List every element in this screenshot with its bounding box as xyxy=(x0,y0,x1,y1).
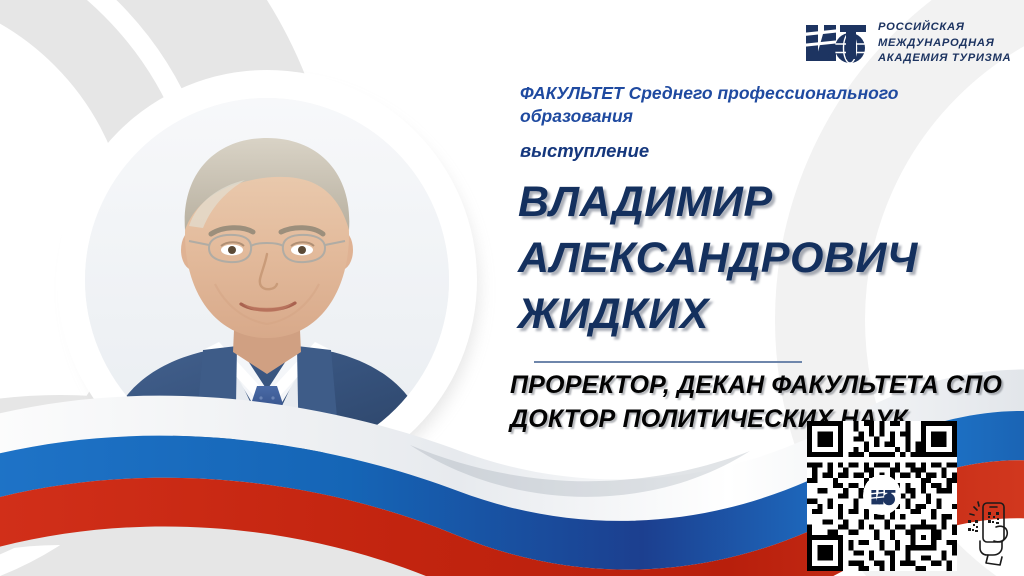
role-line-1: ПРОРЕКТОР, ДЕКАН ФАКУЛЬТЕТА СПО xyxy=(510,368,1020,402)
portrait-container xyxy=(57,70,477,490)
speaker-patronymic: АЛЕКСАНДРОВИЧ xyxy=(518,231,1020,287)
divider-rule xyxy=(534,361,802,363)
qr-code[interactable] xyxy=(807,421,957,571)
rmat-logo-mark xyxy=(800,15,868,71)
rmat-logo-wordmark: РОССИЙСКАЯ МЕЖДУНАРОДНАЯ АКАДЕМИЯ ТУРИЗМ… xyxy=(878,20,1011,66)
logo-line-2: МЕЖДУНАРОДНАЯ xyxy=(878,36,1011,51)
floating-qr-glyph xyxy=(968,520,978,532)
presentation-slide: РОССИЙСКАЯ МЕЖДУНАРОДНАЯ АКАДЕМИЯ ТУРИЗМ… xyxy=(0,0,1024,576)
faculty-line-1: ФАКУЛЬТЕТ Среднего профессионального xyxy=(520,82,1020,105)
performance-label: выступление xyxy=(520,139,1020,164)
speaker-name: ВЛАДИМИР АЛЕКСАНДРОВИЧ ЖИДКИХ xyxy=(518,175,1020,343)
speaker-first-name: ВЛАДИМИР xyxy=(518,175,1020,231)
faculty-line-2: образования xyxy=(520,105,1020,128)
phone-qr-glyph xyxy=(988,512,999,524)
speaker-text-column: ФАКУЛЬТЕТ Среднего профессионального обр… xyxy=(508,82,1020,436)
logo-line-1: РОССИЙСКАЯ xyxy=(878,20,1011,35)
logo-line-3: АКАДЕМИЯ ТУРИЗМА xyxy=(878,51,1011,66)
qr-center-logo xyxy=(862,476,902,516)
rmat-logo: РОССИЙСКАЯ МЕЖДУНАРОДНАЯ АКАДЕМИЯ ТУРИЗМ… xyxy=(800,12,1011,74)
speaker-surname: ЖИДКИХ xyxy=(518,287,1020,343)
hand-holding-phone-scan-icon xyxy=(966,497,1016,567)
speaker-portrait xyxy=(85,98,449,462)
